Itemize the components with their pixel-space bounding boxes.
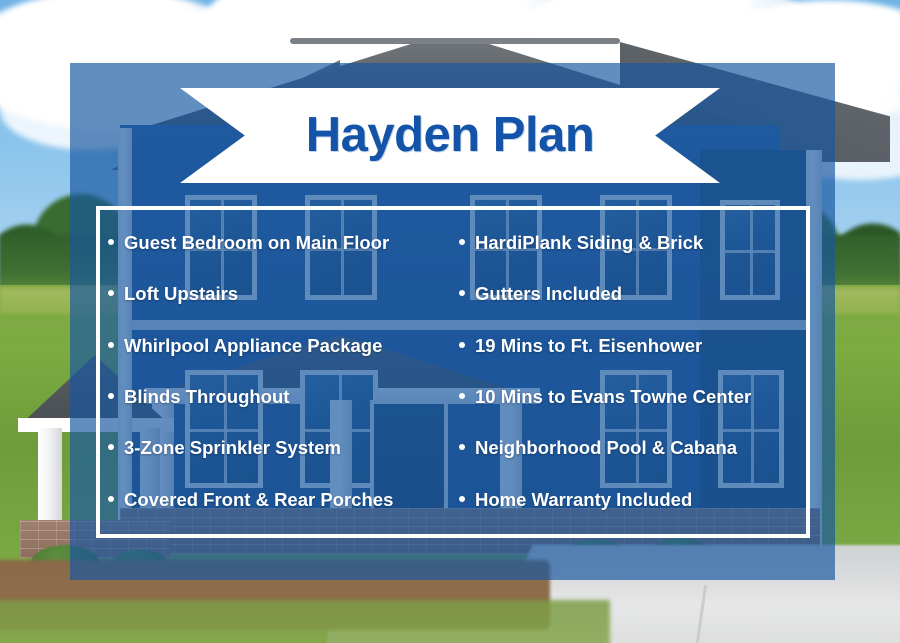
list-item: Blinds Throughout [108, 386, 455, 407]
bullet-icon [108, 239, 114, 245]
list-item-label: Neighborhood Pool & Cabana [475, 437, 737, 458]
features-box: Guest Bedroom on Main Floor Loft Upstair… [96, 206, 810, 538]
bullet-icon [108, 342, 114, 348]
list-item-label: Guest Bedroom on Main Floor [124, 232, 389, 253]
bullet-icon [459, 290, 465, 296]
features-left-column: Guest Bedroom on Main Floor Loft Upstair… [100, 210, 455, 534]
bullet-icon [108, 290, 114, 296]
list-item-label: HardiPlank Siding & Brick [475, 232, 703, 253]
bullet-icon [459, 239, 465, 245]
list-item: 10 Mins to Evans Towne Center [459, 386, 806, 407]
features-right-column: HardiPlank Siding & Brick Gutters Includ… [455, 210, 806, 534]
roof-ridge [290, 38, 620, 44]
grass-foreground [0, 600, 610, 643]
list-item-label: Whirlpool Appliance Package [124, 335, 382, 356]
list-item-label: Loft Upstairs [124, 283, 238, 304]
list-item-label: 19 Mins to Ft. Eisenhower [475, 335, 702, 356]
list-item: Home Warranty Included [459, 489, 806, 510]
plan-flyer: Hayden Plan Guest Bedroom on Main Floor … [0, 0, 900, 643]
list-item: HardiPlank Siding & Brick [459, 232, 806, 253]
list-item-label: Gutters Included [475, 283, 622, 304]
list-item: Covered Front & Rear Porches [108, 489, 455, 510]
list-item: Whirlpool Appliance Package [108, 335, 455, 356]
bullet-icon [459, 342, 465, 348]
bullet-icon [108, 444, 114, 450]
bullet-icon [459, 496, 465, 502]
list-item: Guest Bedroom on Main Floor [108, 232, 455, 253]
list-item-label: Blinds Throughout [124, 386, 289, 407]
list-item: Neighborhood Pool & Cabana [459, 437, 806, 458]
list-item: Gutters Included [459, 283, 806, 304]
list-item-label: 3-Zone Sprinkler System [124, 437, 341, 458]
list-item: 19 Mins to Ft. Eisenhower [459, 335, 806, 356]
list-item: Loft Upstairs [108, 283, 455, 304]
ribbon-banner: Hayden Plan [180, 88, 720, 183]
bullet-icon [108, 393, 114, 399]
page-title: Hayden Plan [306, 111, 595, 160]
bullet-icon [459, 393, 465, 399]
bullet-icon [459, 444, 465, 450]
list-item-label: Covered Front & Rear Porches [124, 489, 393, 510]
bullet-icon [108, 496, 114, 502]
list-item: 3-Zone Sprinkler System [108, 437, 455, 458]
list-item-label: 10 Mins to Evans Towne Center [475, 386, 751, 407]
list-item-label: Home Warranty Included [475, 489, 692, 510]
